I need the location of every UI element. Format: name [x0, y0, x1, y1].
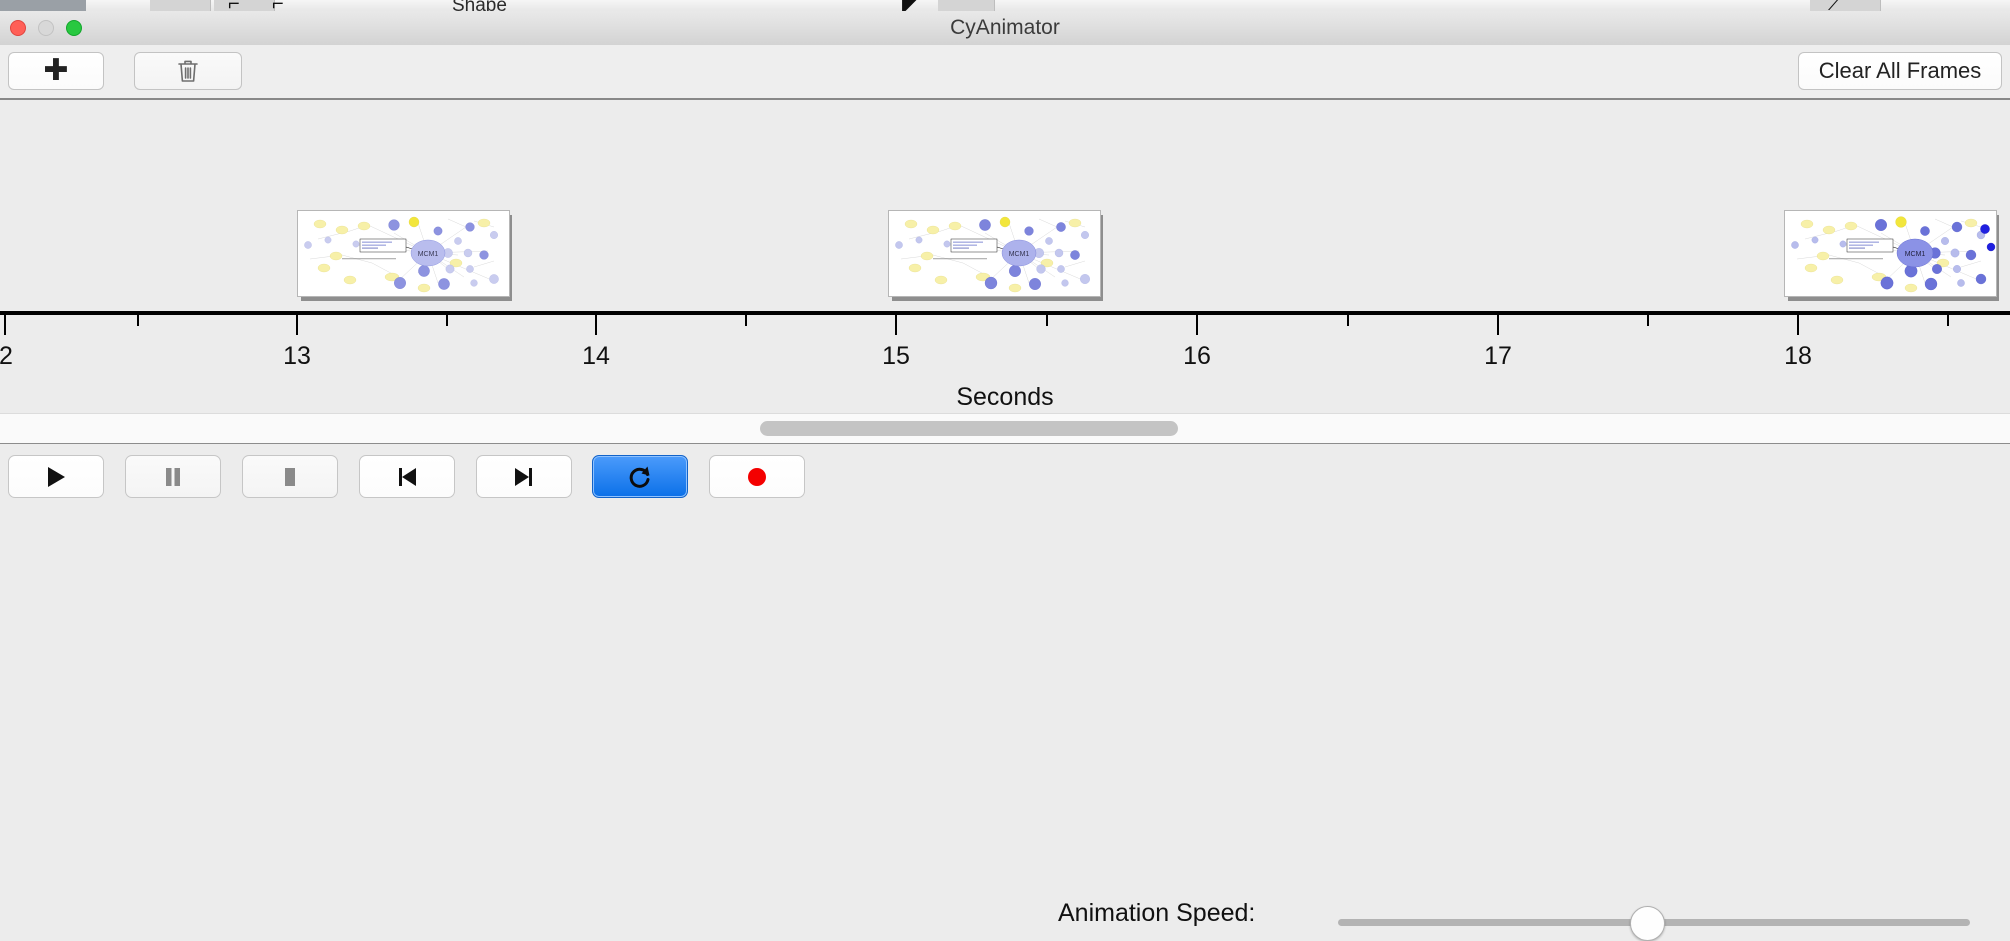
svg-text:MCM1: MCM1	[418, 251, 439, 258]
frame-thumbnail[interactable]: MCM1	[888, 210, 1103, 298]
network-graph-icon: MCM1	[298, 211, 509, 296]
pause-button[interactable]	[125, 455, 221, 498]
add-frame-button[interactable]: ✚	[8, 52, 104, 90]
frame-toolbar: ✚ Clear All Frames	[0, 45, 2010, 100]
background-window-strip: ⌐ ⌐ Shape ◤ ⟋	[0, 0, 2010, 11]
delete-frame-button[interactable]	[134, 52, 242, 90]
clear-all-frames-label: Clear All Frames	[1819, 58, 1982, 84]
transport-bar: Animation Speed:	[0, 444, 2010, 510]
bg-glyph-icon: ⌐	[228, 0, 240, 11]
bg-tab	[150, 0, 211, 11]
play-icon	[45, 465, 67, 489]
axis-tick-major	[1797, 315, 1799, 335]
loop-button[interactable]	[592, 455, 688, 498]
skip-to-start-button[interactable]	[359, 455, 455, 498]
record-icon	[745, 465, 769, 489]
timeline-axis	[0, 311, 2010, 315]
frame-image: MCM1	[888, 210, 1101, 297]
svg-text:MCM1: MCM1	[1009, 251, 1030, 258]
frame-image: MCM1	[1784, 210, 1997, 297]
stop-button[interactable]	[242, 455, 338, 498]
axis-tick-label: 17	[1484, 342, 1512, 371]
bg-dark-chip	[0, 0, 86, 11]
bg-window-label: Shape	[452, 0, 507, 11]
axis-tick-minor	[137, 315, 139, 326]
frame-image: MCM1	[297, 210, 510, 297]
axis-tick-label: 13	[283, 342, 311, 371]
axis-title: Seconds	[0, 383, 2010, 412]
axis-tick-major	[595, 315, 597, 335]
network-graph-icon: MCM1	[889, 211, 1100, 296]
stop-icon	[279, 465, 301, 489]
animation-speed-slider-thumb[interactable]	[1630, 906, 1665, 941]
trash-icon	[177, 58, 199, 84]
skip-backward-icon	[395, 465, 419, 489]
svg-text:MCM1: MCM1	[1905, 251, 1926, 258]
window-title: CyAnimator	[0, 11, 2010, 45]
axis-tick-label: 14	[582, 342, 610, 371]
axis-tick-minor	[1947, 315, 1949, 326]
cyanimator-window: ⌐ ⌐ Shape ◤ ⟋ CyAnimator ✚ Clear All Fra…	[0, 0, 2010, 510]
plus-icon: ✚	[43, 56, 68, 86]
skip-forward-icon	[512, 465, 536, 489]
axis-tick-minor	[1347, 315, 1349, 326]
record-button[interactable]	[709, 455, 805, 498]
bg-tab	[938, 0, 995, 11]
bg-glyph-icon: ⌐	[272, 0, 284, 11]
title-bar: CyAnimator	[0, 11, 2010, 46]
axis-tick-label: 2	[0, 342, 13, 371]
timeline-scrollbar[interactable]	[0, 413, 2010, 445]
skip-to-end-button[interactable]	[476, 455, 572, 498]
axis-tick-label: 16	[1183, 342, 1211, 371]
timeline-panel[interactable]: MCM1	[0, 100, 2010, 413]
axis-tick-major	[296, 315, 298, 335]
network-graph-icon: MCM1	[1785, 211, 1996, 296]
animation-speed-label: Animation Speed:	[1058, 899, 1255, 928]
bg-glyph-icon: ⟋	[1828, 0, 1842, 11]
axis-tick-label: 18	[1784, 342, 1812, 371]
axis-tick-major	[1196, 315, 1198, 335]
frame-thumbnail[interactable]: MCM1	[1784, 210, 1999, 298]
scrollbar-thumb[interactable]	[760, 421, 1178, 436]
axis-tick-major	[4, 315, 6, 335]
axis-tick-label: 15	[882, 342, 910, 371]
pause-icon	[162, 465, 184, 489]
axis-tick-minor	[745, 315, 747, 326]
axis-tick-minor	[1647, 315, 1649, 326]
bg-marker-icon: ◤	[902, 0, 917, 11]
frame-thumbnail[interactable]: MCM1	[297, 210, 512, 298]
axis-tick-minor	[1046, 315, 1048, 326]
bg-tab	[214, 0, 275, 11]
bg-tab	[1810, 0, 1881, 11]
axis-tick-major	[1497, 315, 1499, 335]
loop-icon	[627, 464, 653, 490]
axis-tick-minor	[446, 315, 448, 326]
axis-tick-major	[895, 315, 897, 335]
clear-all-frames-button[interactable]: Clear All Frames	[1798, 52, 2002, 90]
play-button[interactable]	[8, 455, 104, 498]
